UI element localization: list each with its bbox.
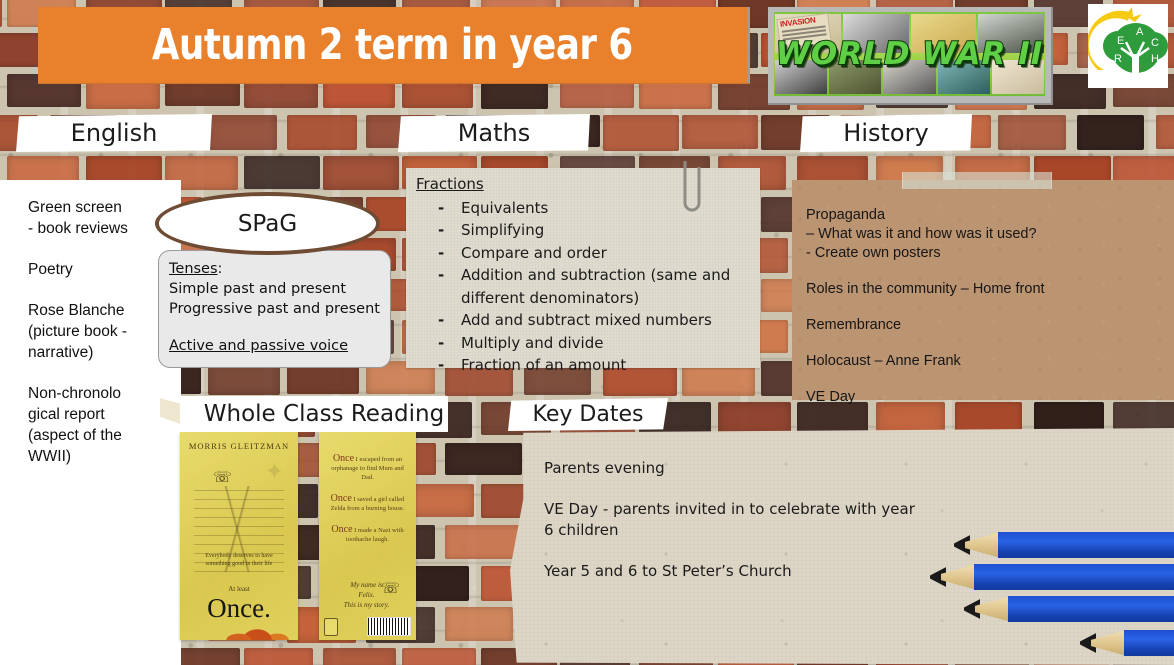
- book-front-cover: MORRIS GLEITZMAN ✦ ☏ Everybody deserves …: [180, 432, 298, 640]
- key-dates-item: Parents evening: [544, 458, 1164, 479]
- section-label-whole-class-reading-text: Whole Class Reading: [178, 396, 448, 432]
- section-label-whole-class-reading: Whole Class Reading: [178, 396, 448, 432]
- book-back-lead: Once: [331, 524, 352, 535]
- pencil-barrel: [974, 564, 1174, 590]
- star-of-david-icon: ✦: [265, 458, 284, 485]
- brick: [998, 115, 1066, 150]
- svg-text:A: A: [1136, 26, 1144, 38]
- book-back-rest: I made a Nazi with toothache laugh.: [346, 527, 404, 543]
- history-group: Propaganda – What was it and how was it …: [806, 206, 1164, 263]
- maths-list-item: Compare and order: [416, 242, 748, 265]
- pencil-barrel: [998, 532, 1174, 558]
- book-back-line: Once I saved a girl called Zelda from a …: [327, 494, 408, 513]
- english-panel: Green screen - book reviews Poetry Rose …: [0, 180, 181, 665]
- svg-text:R: R: [1114, 53, 1122, 65]
- slide-title-text: Autumn 2 term in year 6: [152, 20, 633, 70]
- topic-banner-inner: INVASION WORLD WAR II: [774, 12, 1045, 96]
- english-item: Rose Blanche (picture book - narrative): [28, 300, 173, 363]
- section-label-history-text: History: [843, 119, 928, 147]
- english-items: Green screen - book reviews Poetry Rose …: [0, 180, 181, 467]
- book-blurb: Everybody deserves to have something goo…: [186, 552, 292, 568]
- section-label-maths-text: Maths: [458, 119, 531, 147]
- spag-footer: Active and passive voice: [169, 336, 380, 356]
- pencils-image: [930, 512, 1174, 665]
- brick: [244, 648, 313, 665]
- pencil-wood: [965, 532, 1001, 558]
- brick: [402, 648, 476, 665]
- brick: [603, 115, 679, 151]
- section-label-key-dates-text: Key Dates: [508, 398, 668, 431]
- book-back-lead: Once: [333, 453, 354, 464]
- book-back-line: Once I escaped from an orphanage to find…: [327, 454, 408, 482]
- maths-note-card: Fractions Equivalents Simplifying Compar…: [406, 168, 760, 368]
- slide-canvas: Autumn 2 term in year 6 INVASION: [0, 0, 1174, 665]
- brick: [682, 115, 758, 149]
- brick: [1156, 115, 1174, 149]
- svg-text:E: E: [1117, 35, 1124, 47]
- pencil: [954, 532, 1174, 558]
- pencil: [1080, 630, 1174, 656]
- section-label-history: History: [800, 114, 972, 152]
- book-at-least-text: At least: [180, 585, 298, 593]
- english-item: Poetry: [28, 259, 173, 280]
- brick: [1077, 115, 1144, 150]
- brick: [445, 525, 522, 559]
- section-label-english: English: [16, 114, 212, 152]
- pencil-barrel: [1008, 596, 1174, 622]
- section-label-key-dates: Key Dates: [508, 398, 668, 431]
- section-label-english-text: English: [71, 119, 158, 147]
- book-covers-image: MORRIS GLEITZMAN ✦ ☏ Everybody deserves …: [180, 432, 416, 640]
- brick: [323, 156, 399, 190]
- history-content: Propaganda – What was it and how was it …: [792, 180, 1174, 407]
- maths-list-item: Addition and subtraction (same and diffe…: [416, 264, 748, 309]
- spag-spacer: [169, 319, 380, 336]
- book-author: MORRIS GLEITZMAN: [180, 432, 298, 451]
- history-group: Holocaust – Anne Frank: [806, 352, 1164, 371]
- brick: [718, 402, 791, 435]
- pencil-wood: [1091, 630, 1127, 656]
- brick: [445, 607, 513, 641]
- spag-callout-oval: SPaG: [155, 192, 380, 255]
- book-my-story-text: My name is Felix. This is my story.: [325, 580, 408, 610]
- svg-text:C: C: [1151, 37, 1159, 49]
- maths-list-item: Fraction of an amount: [416, 354, 748, 377]
- school-logo: E A C R H: [1088, 4, 1168, 88]
- pencil-barrel: [1124, 630, 1174, 656]
- section-label-maths: Maths: [398, 114, 590, 152]
- maths-content: Fractions Equivalents Simplifying Compar…: [406, 168, 760, 377]
- topic-banner-worldwar2: INVASION WORLD WAR II: [768, 7, 1053, 105]
- barcode-image: [367, 617, 411, 636]
- publisher-logo: [324, 618, 338, 636]
- spag-heading: Tenses: [169, 261, 218, 277]
- brick: [0, 33, 43, 67]
- english-item: Green screen - book reviews: [28, 197, 173, 239]
- spag-line: Simple past and present: [169, 279, 380, 299]
- spag-content-box: Tenses: Simple past and present Progress…: [158, 250, 391, 368]
- history-group: Roles in the community – Home front: [806, 280, 1164, 299]
- maths-list-item: Add and subtract mixed numbers: [416, 309, 748, 332]
- brick: [244, 156, 320, 189]
- tape-strip: [902, 172, 1052, 189]
- school-logo-icon: E A C R H: [1088, 4, 1168, 88]
- paperclip-icon: [681, 161, 703, 219]
- brick: [208, 115, 277, 150]
- english-item: Non-chronolo gical report (aspect of the…: [28, 383, 173, 467]
- maths-list-item: Multiply and divide: [416, 332, 748, 355]
- brick: [323, 648, 396, 665]
- history-group: VE Day: [806, 388, 1164, 407]
- spag-line: Progressive past and present: [169, 299, 380, 319]
- book-back-cover: Once I escaped from an orphanage to find…: [319, 432, 416, 640]
- spag-heading-colon: :: [218, 261, 223, 277]
- brick: [287, 115, 357, 150]
- history-group: Remembrance: [806, 316, 1164, 335]
- book-back-lead: Once: [331, 493, 352, 504]
- book-back-line: Once I made a Nazi with toothache laugh.: [327, 525, 408, 544]
- book-back-blurb: Once I escaped from an orphanage to find…: [327, 454, 408, 556]
- flames-illustration: [224, 610, 298, 640]
- boy-figure-icon: ☏: [213, 470, 232, 485]
- history-card: Propaganda – What was it and how was it …: [792, 180, 1174, 400]
- maths-list: Equivalents Simplifying Compare and orde…: [416, 197, 748, 377]
- topic-banner-text: WORLD WAR II: [774, 36, 1045, 72]
- pencil-wood: [941, 564, 977, 590]
- maths-list-item: Simplifying: [416, 219, 748, 242]
- pencil: [964, 596, 1174, 622]
- spag-heading-row: Tenses:: [169, 259, 380, 279]
- pencil: [930, 564, 1174, 590]
- pencil-wood: [975, 596, 1011, 622]
- brick: [445, 443, 522, 475]
- svg-text:H: H: [1151, 53, 1159, 65]
- slide-title-banner: Autumn 2 term in year 6: [38, 7, 750, 83]
- spag-label-text: SPaG: [238, 211, 297, 237]
